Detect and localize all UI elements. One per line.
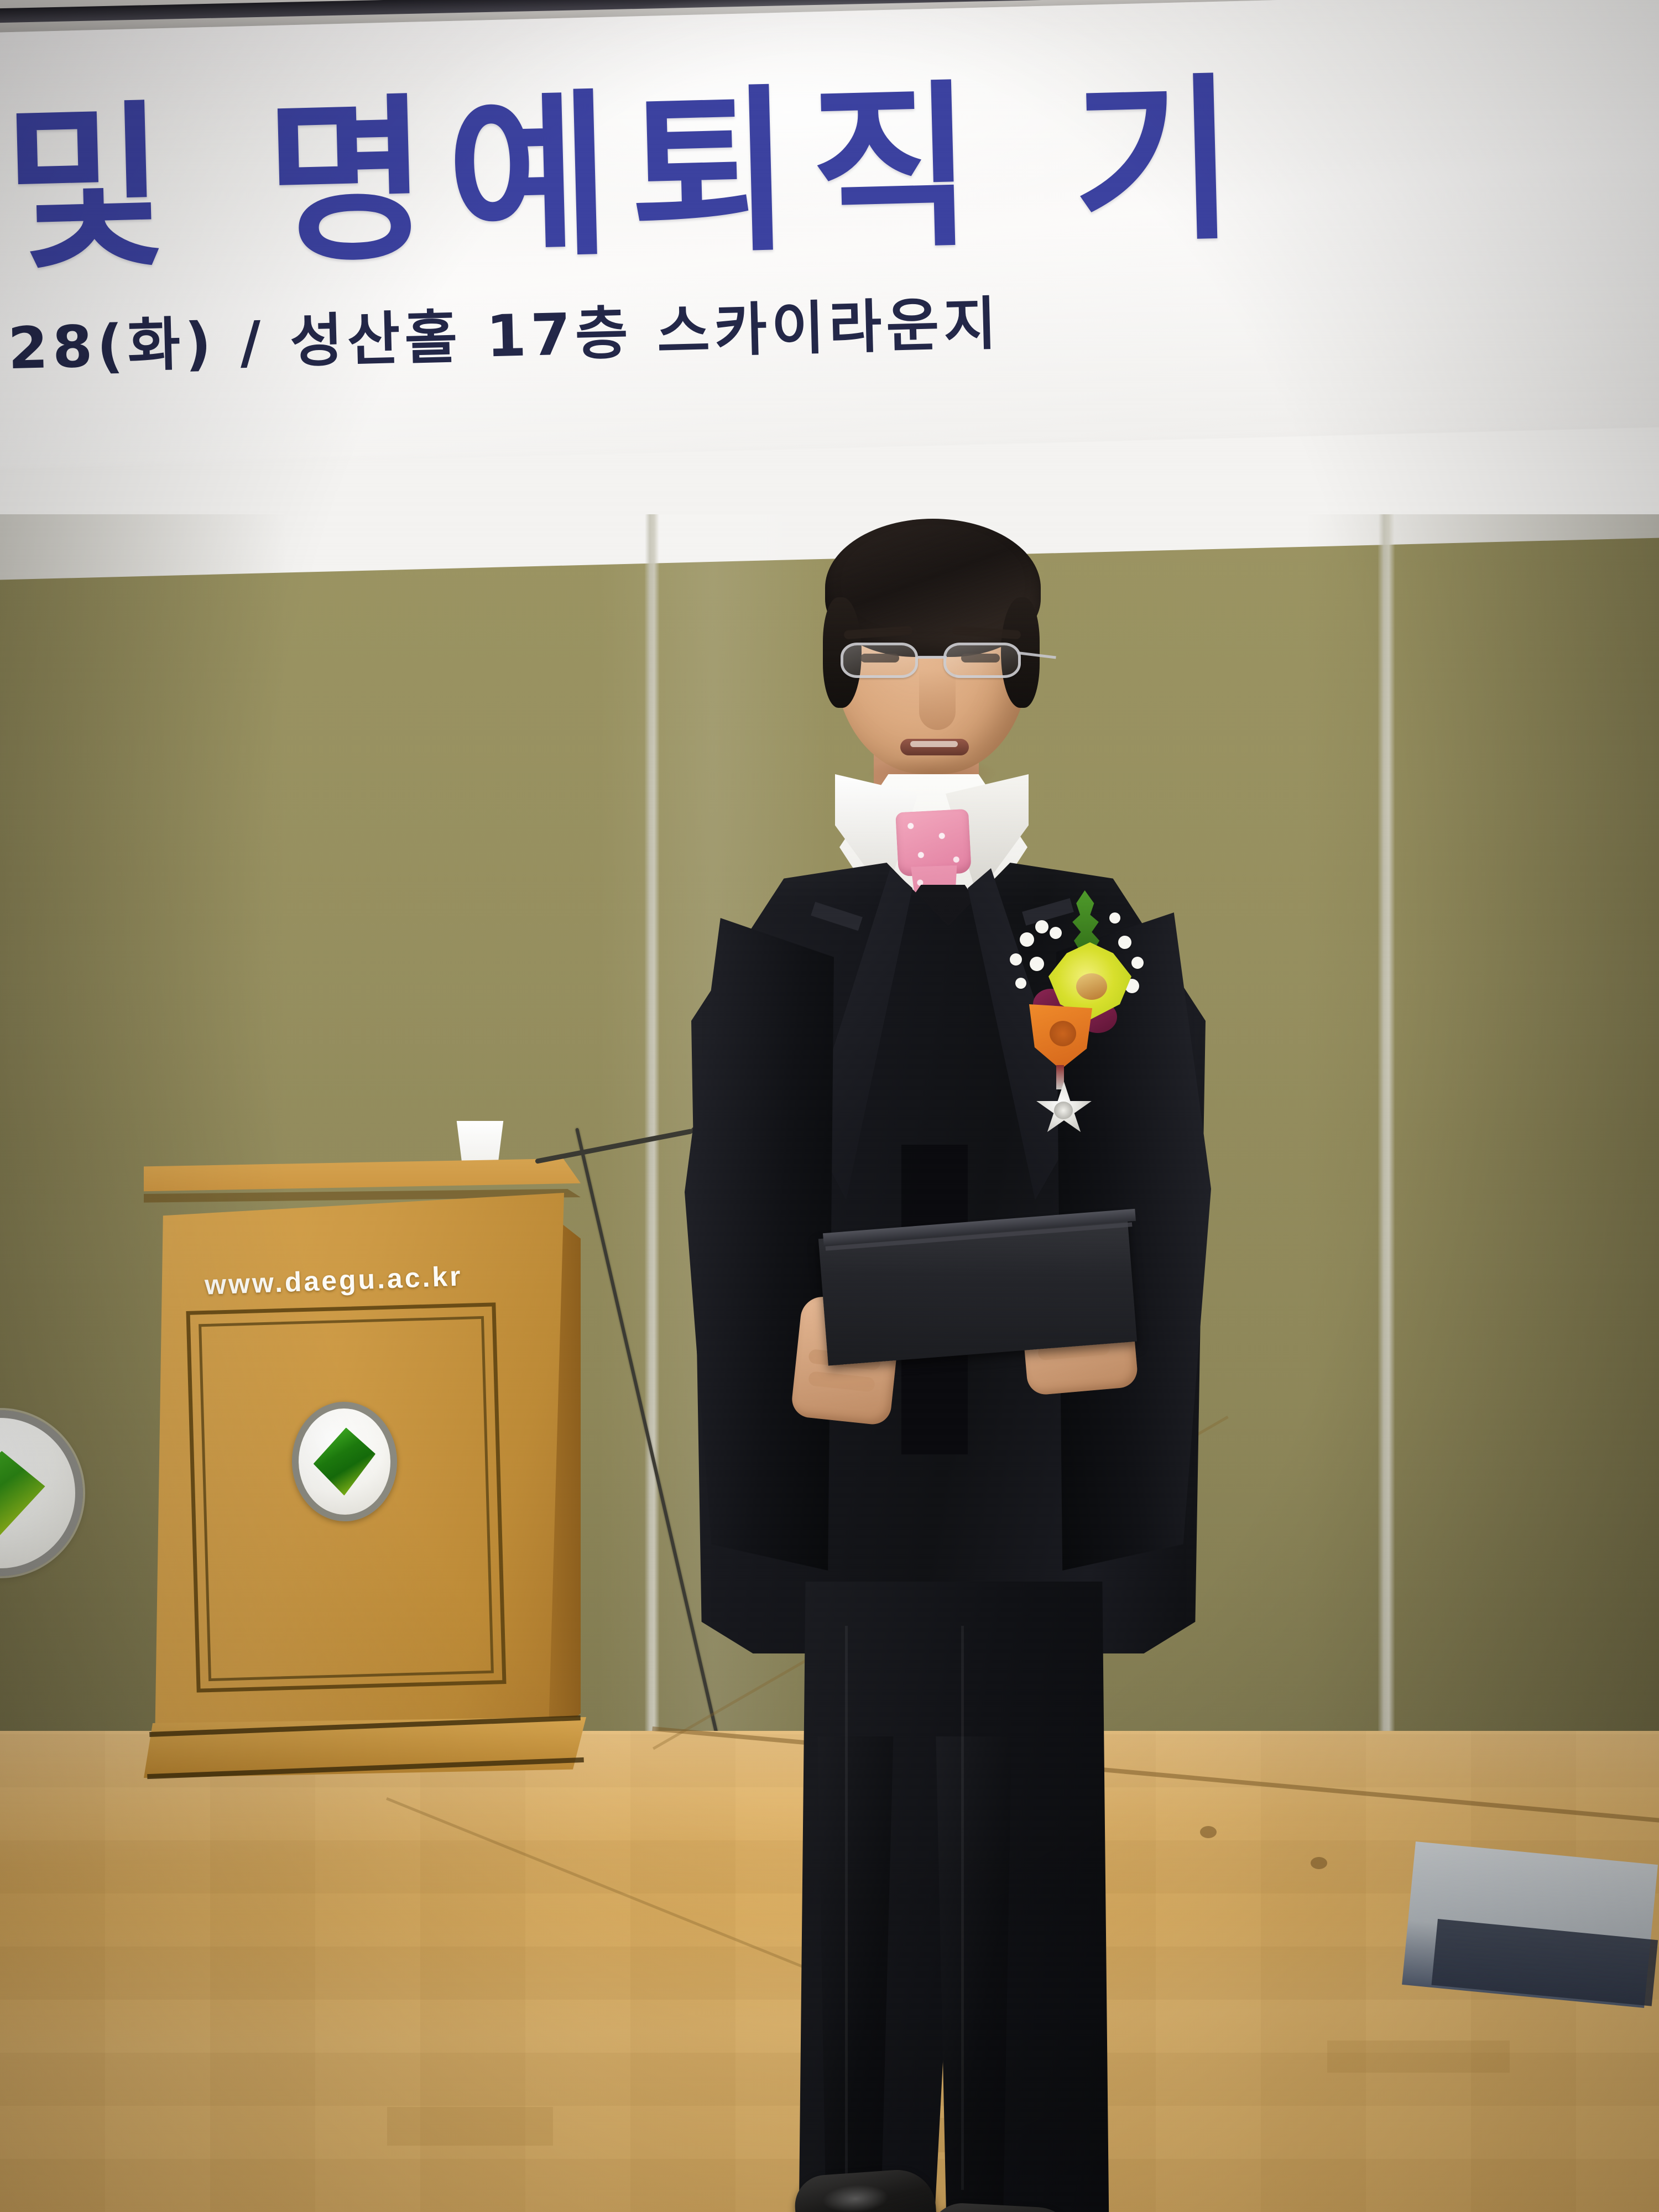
floor-plank — [1327, 2041, 1510, 2073]
emblem-leaf — [312, 1427, 377, 1496]
finger — [808, 1371, 875, 1392]
floor-fixture-dot — [1311, 1857, 1327, 1869]
teeth — [910, 741, 958, 747]
medal-star-center — [1054, 1102, 1073, 1119]
wall-panel-seam-1 — [645, 514, 659, 1775]
babys-breath — [1010, 953, 1022, 966]
nose — [919, 669, 956, 730]
orchid-lip — [1076, 973, 1107, 1000]
wall-shadow-right — [1305, 514, 1659, 1775]
boutonniere — [1001, 896, 1145, 1078]
babys-breath — [1050, 927, 1062, 939]
banner-title: 및 명예퇴직 기 — [2, 60, 1659, 280]
babys-breath — [1118, 936, 1131, 949]
babys-breath — [1030, 957, 1044, 971]
glasses-bridge — [918, 656, 947, 659]
person-figure — [669, 531, 1222, 2212]
seal-leaf — [0, 1451, 45, 1535]
lectern: www.daegu.ac.kr — [144, 1159, 581, 1778]
banner-subtitle: 28(화) / 성산홀 17층 스카이라운지 — [7, 276, 1659, 377]
lens-left — [841, 643, 918, 678]
babys-breath — [1109, 912, 1120, 924]
medal-ribbon-seal — [1050, 1021, 1076, 1046]
wall-panel-seam-2 — [1378, 514, 1395, 1775]
babys-breath — [1131, 957, 1144, 969]
babys-breath — [1015, 978, 1026, 989]
trouser-crease-right — [961, 1626, 964, 2190]
babys-breath — [1035, 920, 1048, 933]
babys-breath — [1020, 932, 1034, 947]
trouser-crease-left — [845, 1626, 848, 2190]
shoe-shine — [821, 2183, 889, 2212]
floor-plank — [387, 2107, 553, 2146]
photo-scene: 및 명예퇴직 기 28(화) / 성산홀 17층 스카이라운지 — [0, 0, 1659, 2212]
